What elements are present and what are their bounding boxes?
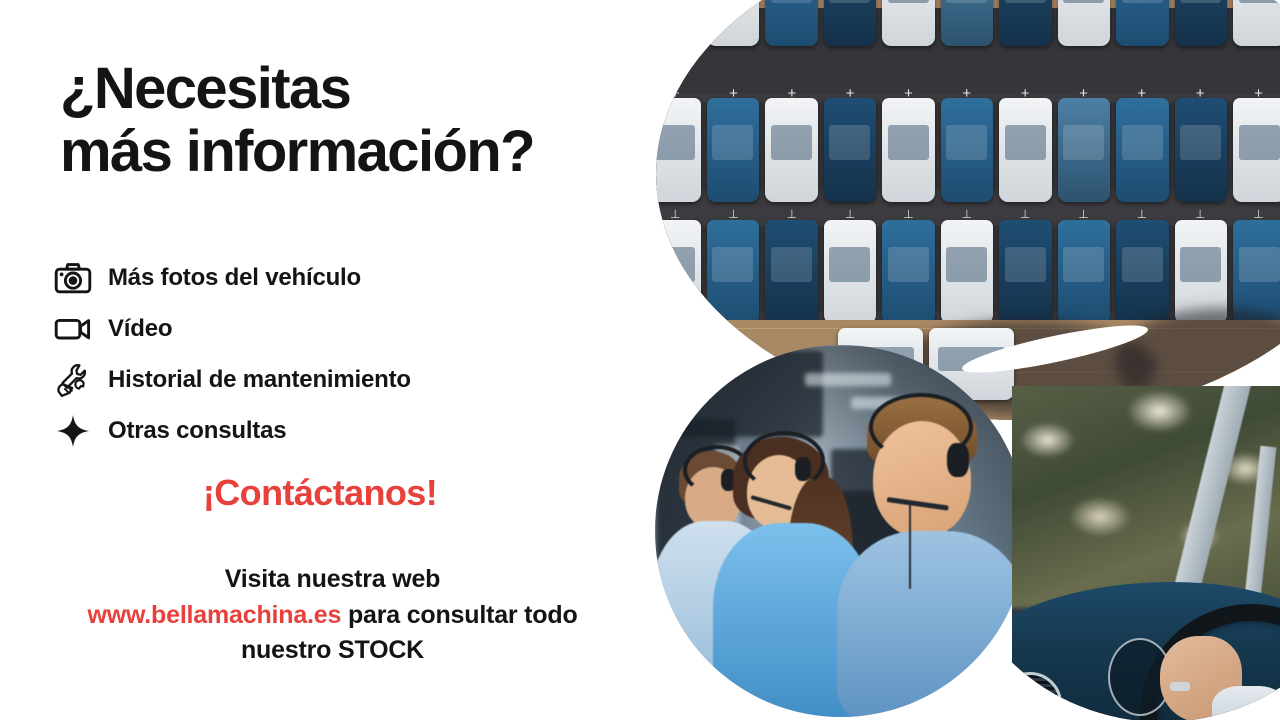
car-interior-driving-photo bbox=[1012, 386, 1280, 720]
call-center-agents-photo bbox=[655, 345, 1027, 717]
video-camera-icon bbox=[52, 310, 94, 348]
website-line-1: Visita nuestra web bbox=[0, 562, 665, 598]
page-title: ¿Necesitas más información? bbox=[60, 57, 534, 183]
promo-banner: ++++++ ++++++ ⊥⊥⊥⊥⊥⊥ ⊥⊥⊥⊥⊥⊥ bbox=[0, 0, 1280, 720]
feature-label: Historial de mantenimiento bbox=[108, 366, 411, 394]
website-line-3: nuestro STOCK bbox=[0, 633, 665, 669]
feature-item-photos: Más fotos del vehículo bbox=[52, 252, 411, 303]
feature-label: Otras consultas bbox=[108, 417, 286, 445]
feature-item-maintenance: Historial de mantenimiento bbox=[52, 354, 411, 405]
sparkle-icon bbox=[52, 412, 94, 450]
feature-item-video: Vídeo bbox=[52, 303, 411, 354]
feature-label: Más fotos del vehículo bbox=[108, 264, 361, 292]
website-info: Visita nuestra web www.bellamachina.es p… bbox=[0, 562, 665, 669]
website-line-2: www.bellamachina.es para consultar todo bbox=[0, 598, 665, 634]
wrench-hand-icon bbox=[52, 361, 94, 399]
website-url[interactable]: www.bellamachina.es bbox=[87, 601, 341, 629]
shirt-cuff bbox=[1212, 686, 1280, 720]
contact-cta: ¡Contáctanos! bbox=[0, 472, 640, 514]
camera-icon bbox=[52, 259, 94, 297]
feature-list: Más fotos del vehículo Vídeo bbox=[52, 252, 411, 456]
wedding-ring bbox=[1170, 682, 1190, 691]
website-line-2-tail: para consultar todo bbox=[341, 601, 577, 629]
feature-label: Vídeo bbox=[108, 315, 172, 343]
feature-item-other: Otras consultas bbox=[52, 405, 411, 456]
